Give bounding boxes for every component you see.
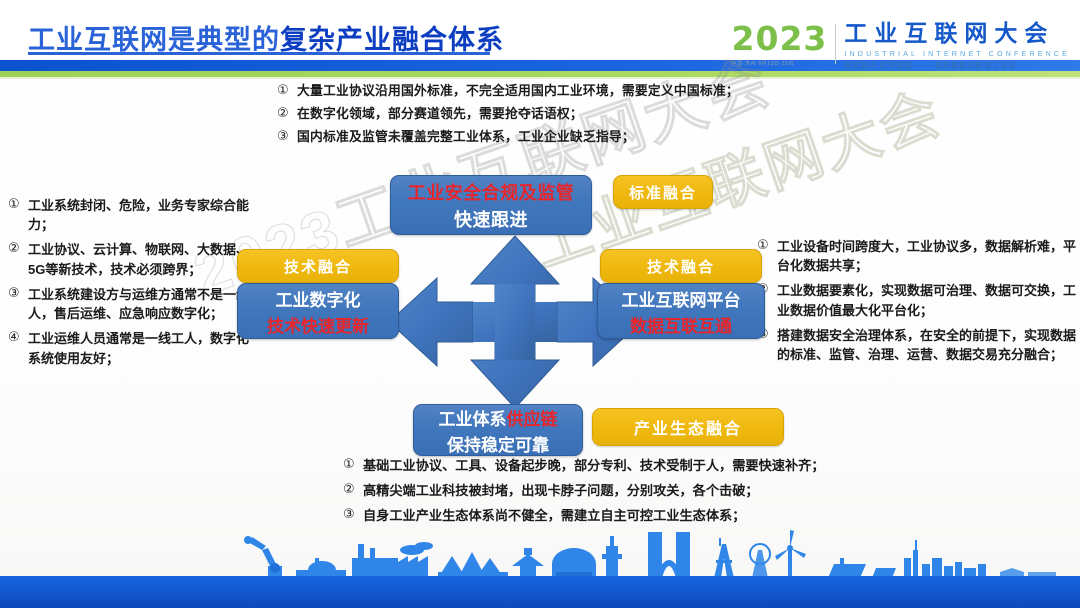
- left-bullet-item-number: ①: [8, 196, 28, 215]
- right-bullet-item-text: 搭建数据安全治理体系，在安全的前提下，实现数据的标准、监管、治理、运营、数据交易…: [777, 326, 1077, 364]
- bottom-bullet-item-number: ③: [343, 506, 363, 525]
- left-bullet-item-text: 工业协议、云计算、物联网、大数据、5G等新技术，技术必须跨界；: [28, 240, 253, 278]
- left-bullet-item-number: ②: [8, 240, 28, 259]
- bottom-bullet-item-text: 高精尖端工业科技被封堵，出现卡脖子问题，分别攻关，各个击破；: [363, 481, 759, 500]
- right-bullet-list: ①工业设备时间跨度大，工业协议多，数据解析难，平台化数据共享；②工业数据要素化，…: [757, 237, 1077, 370]
- logo-divider: [835, 24, 836, 64]
- left-bullet-item-number: ③: [8, 285, 28, 304]
- logo-slogan: 数实融合 数智赋能 —— 高质量推进新型工业化: [844, 60, 1070, 71]
- slide-canvas: 工业互联网是典型的复杂产业融合体系 2023 中国·苏州 8月13日-15日 工…: [0, 0, 1080, 608]
- top-bullet-item-text: 国内标准及监管未覆盖完整工业体系，工业企业缺乏指导；: [297, 128, 635, 147]
- top-bullet-item: ③国内标准及监管未覆盖完整工业体系，工业企业缺乏指导；: [277, 128, 797, 147]
- diagram-tag-tech-fusion-left-label: 技术融合: [284, 256, 352, 277]
- bottom-bullet-item-text: 基础工业协议、工具、设备起步晚，部分专利、技术受制于人，需要快速补齐；: [363, 456, 825, 475]
- left-bullet-item: ④工业运维人员通常是一线工人，数字化系统使用友好；: [8, 329, 253, 367]
- diagram-tag-tech-fusion-right-label: 技术融合: [647, 256, 715, 277]
- diagram-tag-ecosystem-fusion[interactable]: 产业生态融合: [592, 408, 784, 446]
- page-title-plain: 工业互联网是典型的: [28, 25, 280, 55]
- diagram-box-bottom-line2: 保持稳定可靠: [447, 431, 549, 456]
- left-bullet-item: ②工业协议、云计算、物联网、大数据、5G等新技术，技术必须跨界；: [8, 240, 253, 278]
- diagram-box-top-line2: 快速跟进: [454, 206, 528, 232]
- logo-year-block: 2023 中国·苏州 8月13日-15日: [732, 22, 828, 67]
- logo-year-subtitle: 中国·苏州 8月13日-15日: [732, 60, 828, 67]
- right-bullet-item: ③搭建数据安全治理体系，在安全的前提下，实现数据的标准、监管、治理、运营、数据交…: [757, 326, 1077, 364]
- diagram-box-bottom-line1-b: 供应链: [507, 410, 558, 429]
- diagram-box-top[interactable]: 工业安全合规及监管 快速跟进: [390, 175, 592, 235]
- diagram-box-left-line2: 技术快速更新: [267, 312, 369, 337]
- left-bullet-item-text: 工业系统封闭、危险，业务专家综合能力；: [28, 196, 253, 234]
- top-bullet-item-text: 大量工业协议沿用国外标准，不完全适用国内工业环境，需要定义中国标准；: [297, 82, 739, 101]
- top-bullet-item: ②在数字化领域，部分赛道领先，需要抢夺话语权；: [277, 105, 797, 124]
- footer-sea: [0, 576, 1080, 608]
- logo-year: 2023: [732, 22, 828, 55]
- right-bullet-item: ①工业设备时间跨度大，工业协议多，数据解析难，平台化数据共享；: [757, 237, 1077, 275]
- top-bullet-list: ①大量工业协议沿用国外标准，不完全适用国内工业环境，需要定义中国标准；②在数字化…: [277, 82, 797, 151]
- right-bullet-item: ②工业数据要素化，实现数据可治理、数据可交换，工业数据价值最大化平台化；: [757, 281, 1077, 319]
- conference-logo: 2023 中国·苏州 8月13日-15日 工业互联网大会 INDUSTRIAL …: [732, 22, 1070, 71]
- diagram-box-bottom-line1: 工业体系供应链: [439, 405, 558, 430]
- diagram-tag-standard-fusion-label: 标准融合: [629, 182, 697, 203]
- top-bullet-item-text: 在数字化领域，部分赛道领先，需要抢夺话语权；: [297, 105, 583, 124]
- bottom-bullet-item: ①基础工业协议、工具、设备起步晚，部分专利、技术受制于人，需要快速补齐；: [343, 456, 1003, 475]
- diagram-box-left[interactable]: 工业数字化 技术快速更新: [237, 283, 399, 339]
- logo-name-cn: 工业互联网大会: [844, 22, 1070, 45]
- diagram-box-bottom-line1-a: 工业体系: [439, 410, 507, 429]
- left-bullet-item: ③工业系统建设方与运维方通常不是一组人，售后运维、应急响应数字化；: [8, 285, 253, 323]
- right-bullet-item-text: 工业数据要素化，实现数据可治理、数据可交换，工业数据价值最大化平台化；: [777, 281, 1077, 319]
- diagram-tag-tech-fusion-right[interactable]: 技术融合: [600, 249, 762, 283]
- right-bullet-item-text: 工业设备时间跨度大，工业协议多，数据解析难，平台化数据共享；: [777, 237, 1077, 275]
- diagram-box-right-line1: 工业互联网平台: [622, 286, 741, 311]
- top-bullet-item-number: ①: [277, 82, 297, 101]
- top-bullet-item-number: ③: [277, 128, 297, 147]
- left-bullet-item-text: 工业运维人员通常是一线工人，数字化系统使用友好；: [28, 329, 253, 367]
- diagram-box-bottom[interactable]: 工业体系供应链 保持稳定可靠: [413, 404, 583, 456]
- top-bullet-item-number: ②: [277, 105, 297, 124]
- logo-name-block: 工业互联网大会 INDUSTRIAL INTERNET CONFERENCE 数…: [844, 22, 1070, 71]
- diagram-box-left-line1: 工业数字化: [276, 286, 361, 311]
- left-bullet-item-number: ④: [8, 329, 28, 348]
- top-bullet-item: ①大量工业协议沿用国外标准，不完全适用国内工业环境，需要定义中国标准；: [277, 82, 797, 101]
- left-bullet-list: ①工业系统封闭、危险，业务专家综合能力；②工业协议、云计算、物联网、大数据、5G…: [8, 196, 253, 374]
- bottom-bullet-item: ③自身工业产业生态体系尚不健全，需建立自主可控工业生态体系；: [343, 506, 1003, 525]
- bottom-bullet-list: ①基础工业协议、工具、设备起步晚，部分专利、技术受制于人，需要快速补齐；②高精尖…: [343, 456, 1003, 531]
- logo-name-en: INDUSTRIAL INTERNET CONFERENCE: [844, 49, 1070, 58]
- title-underline: [28, 52, 490, 55]
- diagram-box-right[interactable]: 工业互联网平台 数据互联互通: [597, 283, 765, 339]
- left-bullet-item-text: 工业系统建设方与运维方通常不是一组人，售后运维、应急响应数字化；: [28, 285, 253, 323]
- city-skyline-icon: [0, 530, 1080, 578]
- diagram-tag-tech-fusion-left[interactable]: 技术融合: [237, 249, 399, 283]
- diagram-box-top-line1: 工业安全合规及监管: [408, 179, 575, 205]
- page-title-strong: 复杂产业融合体系: [280, 25, 504, 55]
- left-bullet-item: ①工业系统封闭、危险，业务专家综合能力；: [8, 196, 253, 234]
- diagram-tag-standard-fusion[interactable]: 标准融合: [613, 175, 713, 209]
- diagram-box-right-line2: 数据互联互通: [630, 312, 732, 337]
- bottom-bullet-item-number: ①: [343, 456, 363, 475]
- header-light-bar: [0, 77, 1080, 79]
- bottom-bullet-item-text: 自身工业产业生态体系尚不健全，需建立自主可控工业生态体系；: [363, 506, 745, 525]
- diagram-tag-ecosystem-fusion-label: 产业生态融合: [634, 415, 742, 439]
- bottom-bullet-item-number: ②: [343, 481, 363, 500]
- footer-banner: [0, 530, 1080, 608]
- bottom-bullet-item: ②高精尖端工业科技被封堵，出现卡脖子问题，分别攻关，各个击破；: [343, 481, 1003, 500]
